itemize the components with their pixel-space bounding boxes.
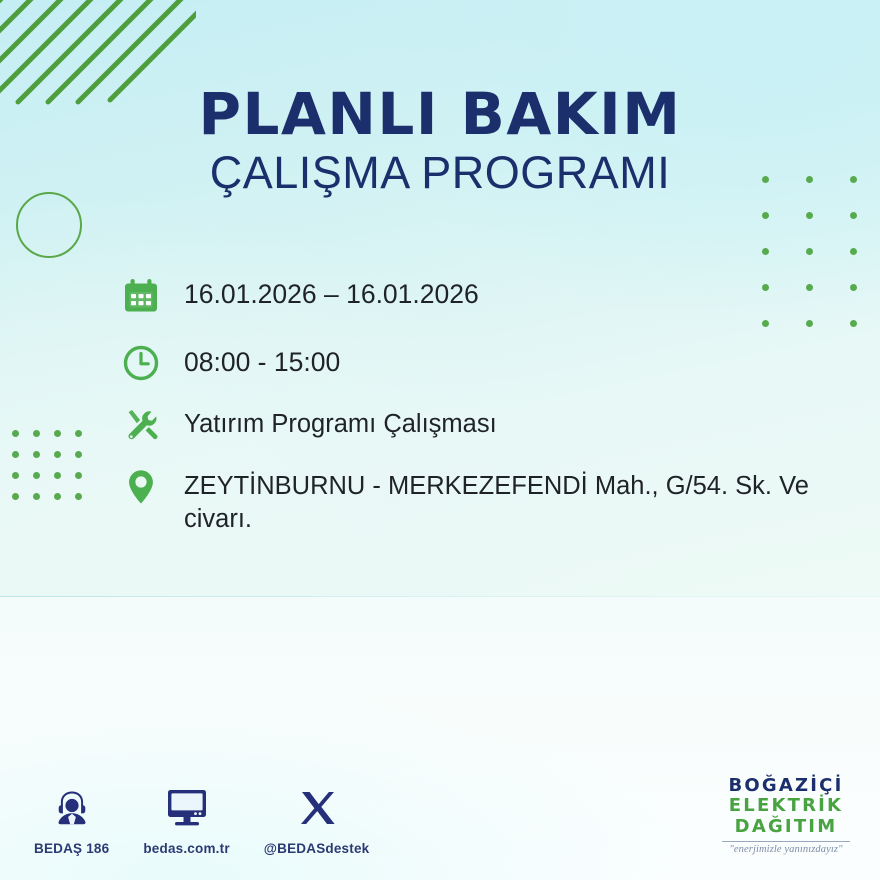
detail-row-location: ZEYTİNBURNU - MERKEZEFENDİ Mah., G/54. S… bbox=[118, 464, 818, 535]
support-agent-icon bbox=[49, 782, 95, 834]
section-divider bbox=[0, 596, 880, 597]
monitor-icon bbox=[163, 782, 211, 834]
diagonal-stripes-decoration bbox=[0, 0, 196, 120]
calendar-icon bbox=[118, 272, 164, 318]
detail-row-work-type: Yatırım Programı Çalışması bbox=[118, 402, 818, 448]
detail-row-time: 08:00 - 15:00 bbox=[118, 340, 818, 386]
dot-grid-left-decoration bbox=[12, 430, 96, 514]
contact-item-phone[interactable]: BEDAŞ 186 bbox=[34, 782, 109, 856]
detail-time-text: 08:00 - 15:00 bbox=[184, 340, 340, 380]
footer-contact-list: BEDAŞ 186 bedas.com.tr bbox=[34, 782, 403, 856]
detail-date-text: 16.01.2026 – 16.01.2026 bbox=[184, 272, 479, 312]
detail-work-type-text: Yatırım Programı Çalışması bbox=[184, 402, 497, 441]
detail-row-date: 16.01.2026 – 16.01.2026 bbox=[118, 272, 818, 318]
circle-outline-decoration bbox=[16, 192, 82, 258]
location-pin-icon bbox=[118, 464, 164, 510]
contact-item-twitter[interactable]: @BEDASdestek bbox=[264, 782, 370, 856]
planned-maintenance-poster: PLANLI BAKIM ÇALIŞMA PROGRAMI bbox=[0, 0, 880, 880]
clock-icon bbox=[118, 340, 164, 386]
detail-location-text: ZEYTİNBURNU - MERKEZEFENDİ Mah., G/54. S… bbox=[184, 464, 818, 535]
x-twitter-icon bbox=[295, 782, 339, 834]
contact-website-label: bedas.com.tr bbox=[143, 841, 229, 856]
contact-item-website[interactable]: bedas.com.tr bbox=[143, 782, 229, 856]
logo-line-elektrik: ELEKTRİK bbox=[710, 796, 862, 816]
tools-icon bbox=[118, 402, 164, 448]
logo-line-bogazici: BOĞAZİÇİ bbox=[710, 776, 862, 796]
logo-line-dagitim: DAĞITIM bbox=[710, 817, 862, 837]
brand-logo: BOĞAZİÇİ ELEKTRİK DAĞITIM "enerjimizle y… bbox=[710, 776, 862, 855]
logo-tagline: "enerjimizle yanınızdayız" bbox=[710, 844, 862, 855]
contact-twitter-label: @BEDASdestek bbox=[264, 841, 370, 856]
logo-divider bbox=[722, 841, 850, 842]
contact-phone-label: BEDAŞ 186 bbox=[34, 841, 109, 856]
maintenance-details: 16.01.2026 – 16.01.2026 08:00 - 15:00 bbox=[118, 272, 818, 557]
